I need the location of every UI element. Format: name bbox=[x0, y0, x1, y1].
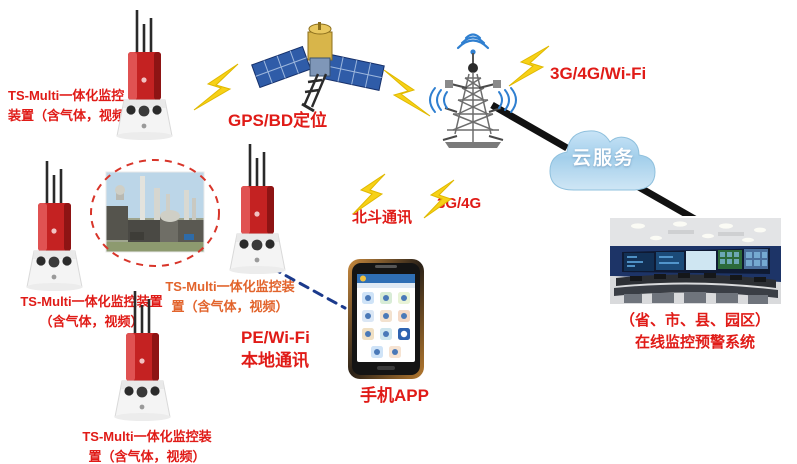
device-mid-left bbox=[14, 155, 94, 300]
refinery-photo-icon bbox=[88, 158, 222, 270]
control-room-icon bbox=[608, 216, 783, 306]
cloud-label: 云服务 bbox=[572, 143, 635, 170]
lightning-icon-beidou bbox=[349, 172, 397, 218]
device-bottom bbox=[102, 285, 182, 430]
device-mid-right bbox=[217, 138, 297, 283]
lightning-icon-3g4gwifi bbox=[505, 44, 561, 90]
diagram-canvas: 云服务 bbox=[0, 0, 797, 464]
lightning-icon-3g4g bbox=[420, 178, 466, 222]
lightning-icon-gps-right bbox=[378, 68, 436, 120]
lightning-icon-gps-left bbox=[190, 62, 250, 114]
device-top-left bbox=[104, 2, 184, 152]
rugged-tablet-icon bbox=[347, 258, 425, 380]
satellite-icon bbox=[248, 8, 388, 113]
